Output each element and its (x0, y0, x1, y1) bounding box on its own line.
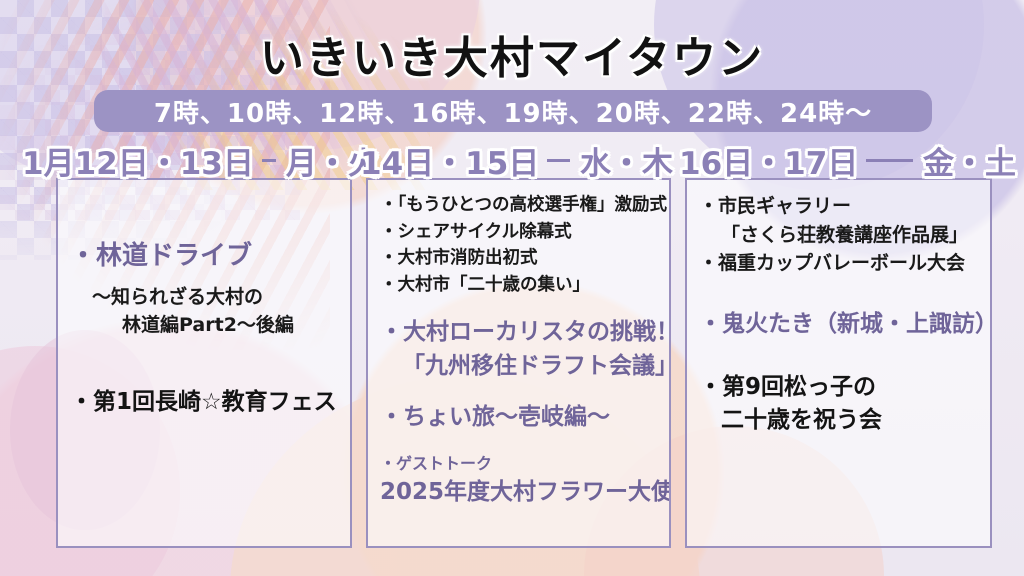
header-rule-3 (866, 159, 913, 162)
page-title: いきいき大村マイタウン (0, 22, 1024, 86)
column-1-panel: ・林道ドライブ 〜知られざる大村の 林道編Part2〜後編 ・第1回長崎☆教育フ… (56, 178, 352, 548)
list-item: 二十歳を祝う会 (699, 404, 986, 437)
column-3-days: 金・土 (923, 138, 1016, 183)
schedule-columns: 1月12日・13日 月・火 ・林道ドライブ 〜知られざる大村の 林道編Part2… (0, 140, 1024, 570)
list-item: ・鬼火たき（新城・上諏訪） (699, 308, 986, 341)
column-2-panel: ・「もうひとつの高校選手権」激励式 ・シェアサイクル除幕式 ・大村市消防出初式 … (366, 178, 671, 548)
broadcast-times-banner: 7時、10時、12時、16時、19時、20時、22時、24時〜 (94, 90, 932, 132)
list-item: 2025年度大村フラワー大使 (380, 476, 665, 509)
column-2-header: 14日・15日 水・木 (360, 140, 673, 180)
column-1-header: 1月12日・13日 月・火 (22, 140, 354, 180)
list-item: ・ゲストトーク (380, 452, 665, 475)
list-item: 〜知られざる大村の (70, 283, 346, 312)
list-item: ・「もうひとつの高校選手権」激励式 (380, 192, 665, 219)
schedule-column-3: 16日・17日 金・土 ・市民ギャラリー 「さくら荘教養講座作品展」 ・福重カッ… (679, 140, 1016, 570)
list-item: ・福重カップバレーボール大会 (699, 249, 986, 278)
column-2-date: 14日・15日 (360, 138, 539, 183)
list-item: ・第1回長崎☆教育フェス (70, 386, 346, 419)
broadcast-schedule-slide: いきいき大村マイタウン 7時、10時、12時、16時、19時、20時、22時、2… (0, 0, 1024, 576)
schedule-column-2: 14日・15日 水・木 ・「もうひとつの高校選手権」激励式 ・シェアサイクル除幕… (360, 140, 673, 570)
list-item: ・大村市「二十歳の集い」 (380, 272, 665, 299)
header-rule-1 (262, 159, 276, 162)
column-3-panel: ・市民ギャラリー 「さくら荘教養講座作品展」 ・福重カップバレーボール大会 ・鬼… (685, 178, 992, 548)
list-item: ・林道ドライブ (70, 238, 346, 275)
header-rule-2 (547, 159, 570, 162)
column-1-date: 1月12日・13日 (22, 138, 254, 183)
column-3-date: 16日・17日 (679, 138, 858, 183)
list-item: ・ちょい旅〜壱岐編〜 (380, 401, 665, 434)
list-item: ・大村市消防出初式 (380, 245, 665, 272)
schedule-column-1: 1月12日・13日 月・火 ・林道ドライブ 〜知られざる大村の 林道編Part2… (22, 140, 354, 570)
column-2-days: 水・木 (580, 138, 673, 183)
list-item: ・大村ローカリスタの挑戦！ (380, 316, 665, 349)
broadcast-times-text: 7時、10時、12時、16時、19時、20時、22時、24時〜 (154, 93, 872, 130)
list-item: ・シェアサイクル除幕式 (380, 219, 665, 246)
list-item: 「九州移住ドラフト会議」 (380, 350, 665, 383)
column-3-header: 16日・17日 金・土 (679, 140, 1016, 180)
list-item: ・市民ギャラリー (699, 192, 986, 221)
list-item: ・第9回松っ子の (699, 371, 986, 404)
list-item: 林道編Part2〜後編 (70, 311, 346, 340)
list-item: 「さくら荘教養講座作品展」 (699, 221, 986, 250)
